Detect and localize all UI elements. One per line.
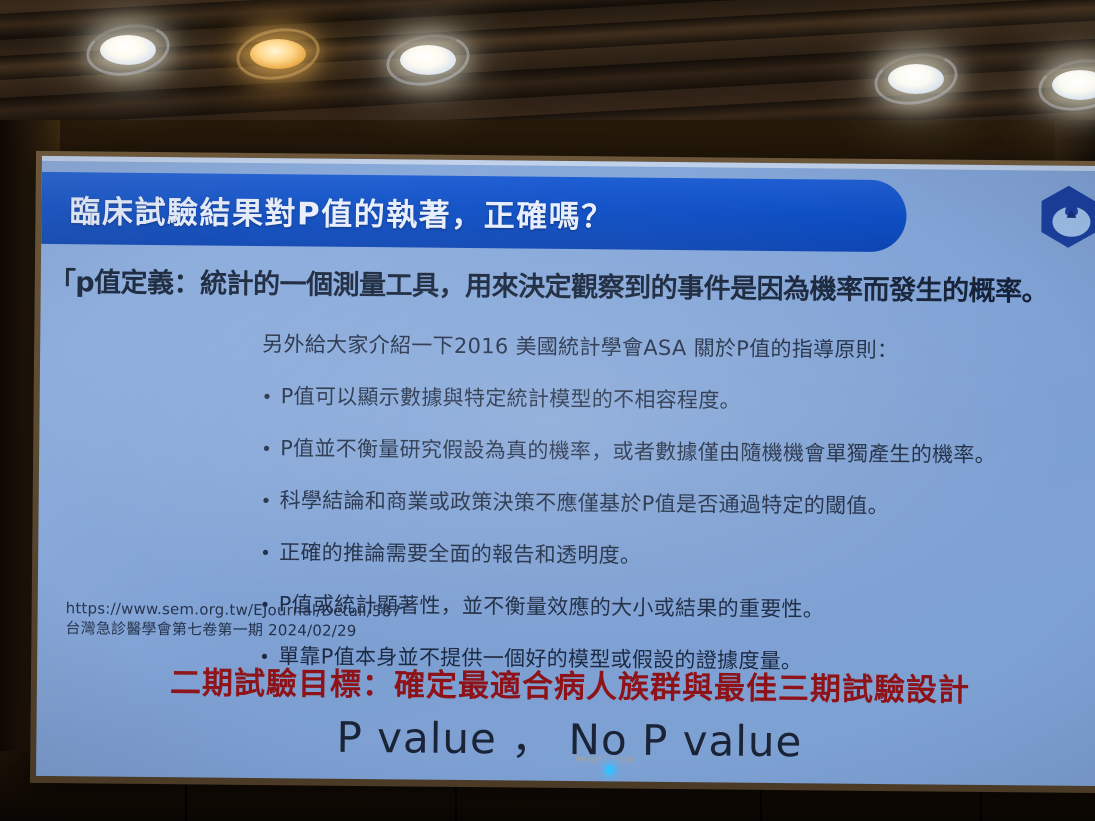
- bullet-text: 正確的推論需要全面的報告和透明度。: [279, 536, 641, 569]
- projection-screen-frame: 臨床試驗結果對P值的執著，正確嗎？ 「p值定義：統計的一個測量工具，用來決定觀察…: [30, 151, 1095, 793]
- source-citation: 台灣急診醫學會第七卷第一期 2024/02/29: [65, 618, 401, 641]
- presentation-slide: 臨床試驗結果對P值的執著，正確嗎？ 「p值定義：統計的一個測量工具，用來決定觀察…: [36, 156, 1095, 786]
- spotlight-2: [228, 26, 328, 82]
- bullet-text: P值並不衡量研究假設為真的機率，或者數據僅由隨機機會單獨產生的機率。: [280, 432, 996, 469]
- projection-screen: 臨床試驗結果對P值的執著，正確嗎？ 「p值定義：統計的一個測量工具，用來決定觀察…: [36, 156, 1095, 786]
- slide-title: 臨床試驗結果對P值的執著，正確嗎？: [69, 186, 614, 236]
- source-footnote: https://www.sem.org.tw/EJournal/Detail/5…: [65, 598, 401, 642]
- list-item: • P值並不衡量研究假設為真的機率，或者數據僅由隨機機會單獨產生的機率。: [261, 432, 1081, 470]
- spotlight-3: [378, 32, 478, 88]
- list-item: • P值可以顯示數據與特定統計模型的不相容程度。: [262, 380, 1082, 418]
- asa-guidelines-block: 另外給大家介紹一下2016 美國統計學會ASA 關於P值的指導原則： • P值可…: [259, 328, 1082, 700]
- asa-intro-line: 另外給大家介紹一下2016 美國統計學會ASA 關於P值的指導原則：: [262, 328, 1082, 366]
- list-item: • 正確的推論需要全面的報告和透明度。: [260, 536, 1080, 574]
- bullet-dot-icon: •: [261, 441, 272, 459]
- spotlight-1: [78, 22, 178, 78]
- p-value-definition-quote: 「p值定義：統計的一個測量工具，用來決定觀察到的事件是因為機率而發生的概率。: [49, 260, 1095, 309]
- p-value-contrast-line: P value ， No P value: [36, 701, 1095, 772]
- spotlight-4: [868, 52, 964, 106]
- bullet-text: 科學結論和商業或政策決策不應僅基於P值是否通過特定的閾值。: [280, 484, 890, 520]
- list-item: • 科學結論和商業或政策決策不應僅基於P值是否通過特定的閾值。: [261, 484, 1081, 522]
- slide-title-bar: 臨床試驗結果對P值的執著，正確嗎？: [41, 172, 907, 252]
- bullet-dot-icon: •: [262, 389, 273, 407]
- bullet-dot-icon: •: [260, 545, 271, 563]
- bezel-brand-label: PROJECTION: [575, 755, 634, 765]
- bullet-dot-icon: •: [261, 493, 272, 511]
- bullet-text: P值可以顯示數據與特定統計模型的不相容程度。: [281, 380, 742, 414]
- hexagon-droplet-logo: [1037, 183, 1095, 250]
- photo-scene: 臨床試驗結果對P值的執著，正確嗎？ 「p值定義：統計的一個測量工具，用來決定觀察…: [0, 0, 1095, 821]
- power-indicator-led: [606, 765, 613, 774]
